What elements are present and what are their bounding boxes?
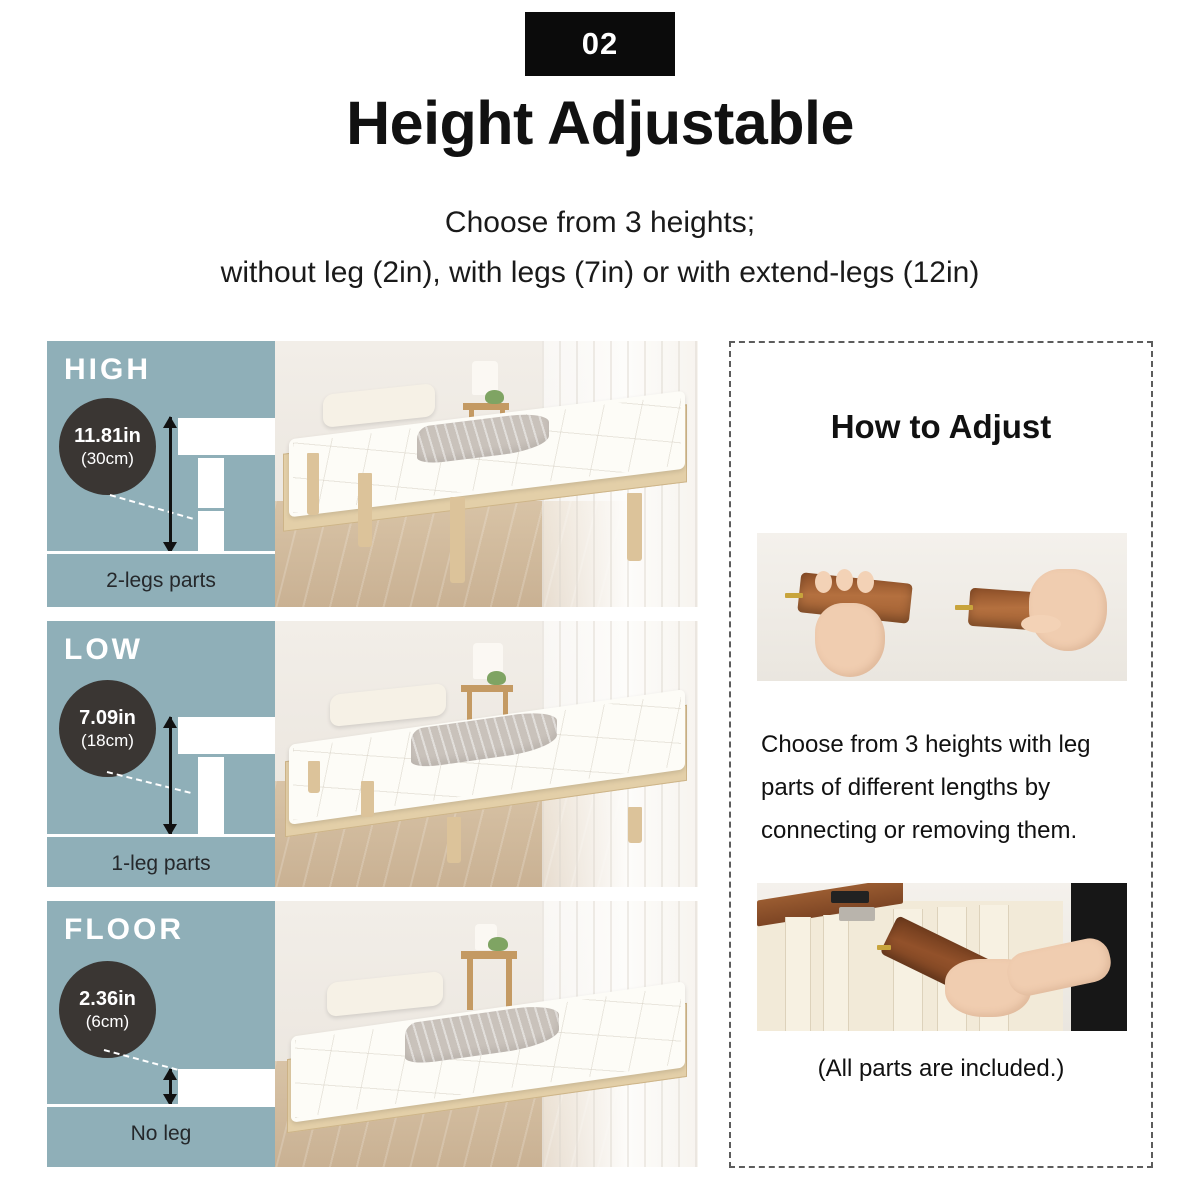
subtitle-line-1: Choose from 3 heights; xyxy=(0,198,1200,248)
photo-bed-leg-3 xyxy=(450,497,465,583)
hand-right xyxy=(1029,569,1107,651)
frame-slat-1 xyxy=(785,917,811,1031)
level-label-floor: FLOOR xyxy=(64,913,184,947)
all-parts-included-caption: (All parts are included.) xyxy=(731,1055,1151,1083)
diagram-high: HIGH 11.81in (30cm) 2-legs parts xyxy=(47,341,275,607)
subtitle-line-2: without leg (2in), with legs (7in) or wi… xyxy=(0,248,1200,298)
finger-left-3 xyxy=(857,571,874,593)
finger-left-1 xyxy=(815,571,832,593)
adjust-photo-hands-legs xyxy=(757,533,1127,681)
photo-bed-leg-2 xyxy=(361,781,374,817)
measurement-badge-low: 7.09in (18cm) xyxy=(59,680,156,777)
dimension-arrow-low xyxy=(163,717,177,835)
bed-photo-floor xyxy=(275,901,698,1167)
ground-line-high xyxy=(47,551,275,554)
frame-slat-2 xyxy=(823,915,849,1031)
photo-table-leg-2 xyxy=(506,958,512,1008)
photo-bed-leg-4 xyxy=(628,807,642,843)
photo-plant xyxy=(485,390,504,404)
screw-thread-left xyxy=(785,593,803,598)
height-option-row-floor: FLOOR 2.36in (6cm) No leg xyxy=(47,901,698,1167)
photo-bed-leg-1 xyxy=(308,761,320,793)
measurement-cm-high: (30cm) xyxy=(81,448,134,469)
photo-table-leg xyxy=(467,691,472,721)
level-label-low: LOW xyxy=(64,633,143,667)
diagram-floor: FLOOR 2.36in (6cm) No leg xyxy=(47,901,275,1167)
photo-table-leg xyxy=(467,958,473,1010)
screw-thread-right xyxy=(955,605,973,610)
height-option-row-high: HIGH 11.81in (30cm) 2-legs parts xyxy=(47,341,698,607)
arrow-head-up-icon xyxy=(163,416,177,428)
measurement-badge-floor: 2.36in (6cm) xyxy=(59,961,156,1058)
measurement-badge-high: 11.81in (30cm) xyxy=(59,398,156,495)
ground-line-floor xyxy=(47,1104,275,1107)
height-option-row-low: LOW 7.09in (18cm) 1-leg parts xyxy=(47,621,698,887)
adjust-photo-attaching-leg xyxy=(757,883,1127,1031)
photo-bed-leg-2 xyxy=(358,473,372,547)
bed-frame-glyph-floor xyxy=(178,1069,288,1105)
parts-caption-low: 1-leg parts xyxy=(47,852,275,876)
leader-line-low xyxy=(107,771,191,794)
frame-metal-plate xyxy=(839,907,875,921)
parts-caption-high: 2-legs parts xyxy=(47,569,275,593)
bed-photo-high xyxy=(275,341,698,607)
leg-segment-2-high xyxy=(198,511,224,553)
photo-plant xyxy=(487,671,506,685)
finger-left-2 xyxy=(836,569,853,591)
infographic-page: 02 Height Adjustable Choose from 3 heigh… xyxy=(0,0,1200,1200)
measurement-cm-floor: (6cm) xyxy=(86,1011,129,1032)
measurement-inches-floor: 2.36in xyxy=(79,988,136,1011)
leader-line-high xyxy=(110,494,193,520)
leg-segment-1-high xyxy=(198,458,224,508)
page-title: Height Adjustable xyxy=(0,88,1200,158)
page-subtitle: Choose from 3 heights; without leg (2in)… xyxy=(0,198,1200,298)
photo-bed-leg-4 xyxy=(627,493,642,561)
screw-thread-attaching xyxy=(877,945,891,950)
photo-bed-leg-1 xyxy=(307,453,319,515)
measurement-inches-low: 7.09in xyxy=(79,707,136,730)
diagram-low: LOW 7.09in (18cm) 1-leg parts xyxy=(47,621,275,887)
dimension-arrow-floor xyxy=(163,1069,177,1105)
level-label-high: HIGH xyxy=(64,353,151,387)
bed-frame-glyph-high xyxy=(178,418,288,455)
arrow-shaft xyxy=(169,417,172,553)
photo-plant xyxy=(488,937,508,951)
arrow-head-up-icon xyxy=(163,1068,177,1080)
hand-left xyxy=(815,603,885,677)
bed-photo-low xyxy=(275,621,698,887)
how-to-adjust-title: How to Adjust xyxy=(731,408,1151,446)
measurement-inches-high: 11.81in xyxy=(74,425,141,448)
finger-right-1 xyxy=(1021,615,1061,633)
ground-line-low xyxy=(47,834,275,837)
how-to-adjust-body: Choose from 3 heights with leg parts of … xyxy=(761,723,1133,852)
photo-bed-leg-3 xyxy=(447,817,461,863)
bed-frame-glyph-low xyxy=(178,717,288,754)
leg-segment-1-low xyxy=(198,757,224,835)
arrow-head-up-icon xyxy=(163,716,177,728)
dimension-arrow-high xyxy=(163,417,177,553)
how-to-adjust-panel: How to Adjust Choose from 3 heights with… xyxy=(729,341,1153,1168)
step-number-badge: 02 xyxy=(525,12,675,76)
arrow-shaft xyxy=(169,717,172,835)
measurement-cm-low: (18cm) xyxy=(81,730,134,751)
frame-bracket xyxy=(831,891,869,903)
parts-caption-floor: No leg xyxy=(47,1122,275,1146)
